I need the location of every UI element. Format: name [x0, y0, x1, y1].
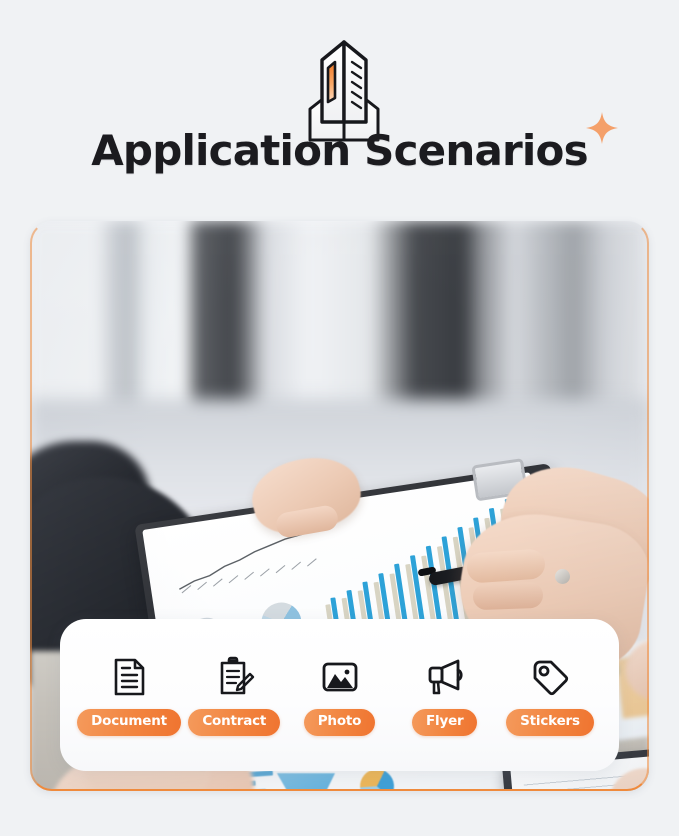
- tag-icon: [527, 654, 573, 700]
- paper-pie-chart: [359, 768, 395, 791]
- image-icon: [317, 654, 363, 700]
- badge-item-stickers[interactable]: Stickers: [499, 654, 601, 736]
- badge-label-photo[interactable]: Photo: [304, 709, 376, 736]
- title-row: Application Scenarios: [0, 128, 679, 173]
- hand-finger: [473, 582, 544, 610]
- badge-item-photo[interactable]: Photo: [289, 654, 391, 736]
- badge-item-contract[interactable]: Contract: [183, 654, 285, 736]
- badge-label-document[interactable]: Document: [77, 709, 181, 736]
- application-badge-panel: Document Contract: [60, 619, 619, 771]
- page-title: Application Scenarios: [91, 128, 588, 173]
- badge-item-document[interactable]: Document: [78, 654, 180, 736]
- badge-item-flyer[interactable]: Flyer: [394, 654, 496, 736]
- document-icon: [106, 654, 152, 700]
- badge-label-contract[interactable]: Contract: [188, 709, 280, 736]
- clipboard-pencil-icon: [211, 654, 257, 700]
- badge-label-flyer[interactable]: Flyer: [412, 709, 477, 736]
- report-line-chart: [171, 526, 326, 596]
- page-header: Application Scenarios: [0, 0, 679, 218]
- hand-ring: [555, 569, 570, 584]
- badge-label-stickers[interactable]: Stickers: [506, 709, 594, 736]
- sparkle-icon: [582, 108, 622, 148]
- megaphone-icon: [422, 654, 468, 700]
- hand-finger: [466, 548, 546, 583]
